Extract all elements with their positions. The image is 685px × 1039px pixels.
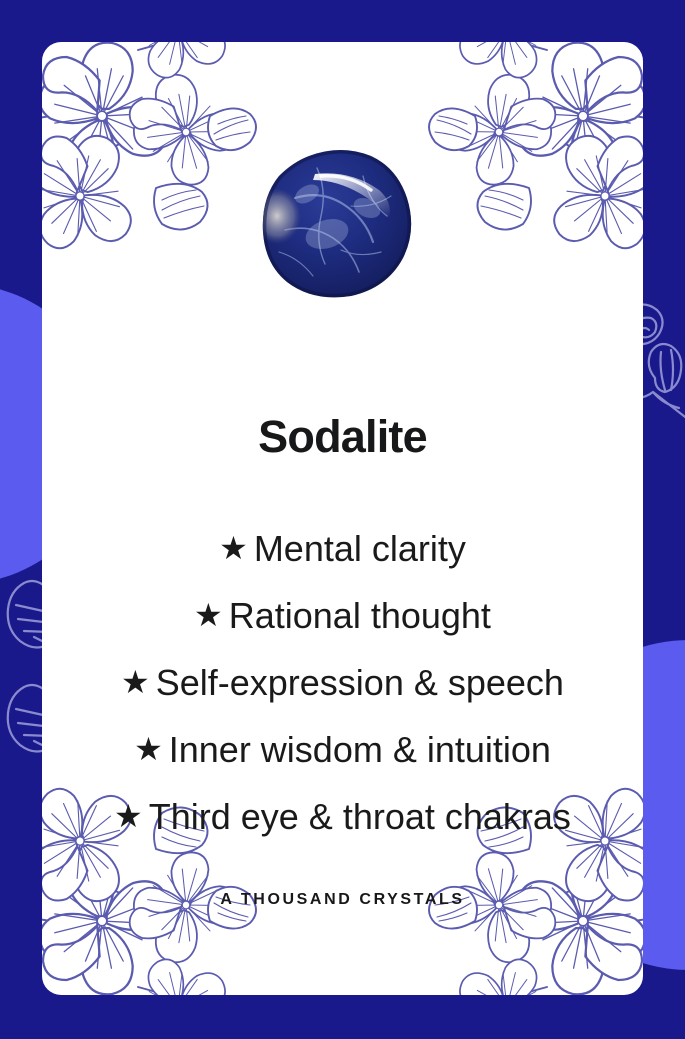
list-item-label: Mental clarity (254, 528, 466, 569)
sodalite-tumbled-stone-icon (255, 146, 431, 304)
list-item: ★Rational thought (42, 582, 643, 649)
crystal-card-poster: Sodalite ★Mental clarity ★Rational thoug… (0, 0, 685, 1039)
list-item-label: Third eye & throat chakras (149, 796, 571, 837)
list-item: ★Inner wisdom & intuition (42, 716, 643, 783)
info-card: Sodalite ★Mental clarity ★Rational thoug… (42, 42, 643, 995)
crystal-image (42, 146, 643, 304)
benefits-list: ★Mental clarity ★Rational thought ★Self-… (42, 515, 643, 850)
star-icon: ★ (134, 731, 163, 767)
list-item: ★Mental clarity (42, 515, 643, 582)
star-icon: ★ (219, 530, 248, 566)
page-title: Sodalite (42, 411, 643, 463)
star-icon: ★ (114, 798, 143, 834)
star-icon: ★ (121, 664, 150, 700)
list-item-label: Rational thought (229, 595, 491, 636)
star-icon: ★ (194, 597, 223, 633)
list-item-label: Self-expression & speech (156, 662, 564, 703)
list-item: ★Third eye & throat chakras (42, 783, 643, 850)
list-item-label: Inner wisdom & intuition (169, 729, 551, 770)
list-item: ★Self-expression & speech (42, 649, 643, 716)
brand-footer: A THOUSAND CRYSTALS (42, 891, 643, 909)
